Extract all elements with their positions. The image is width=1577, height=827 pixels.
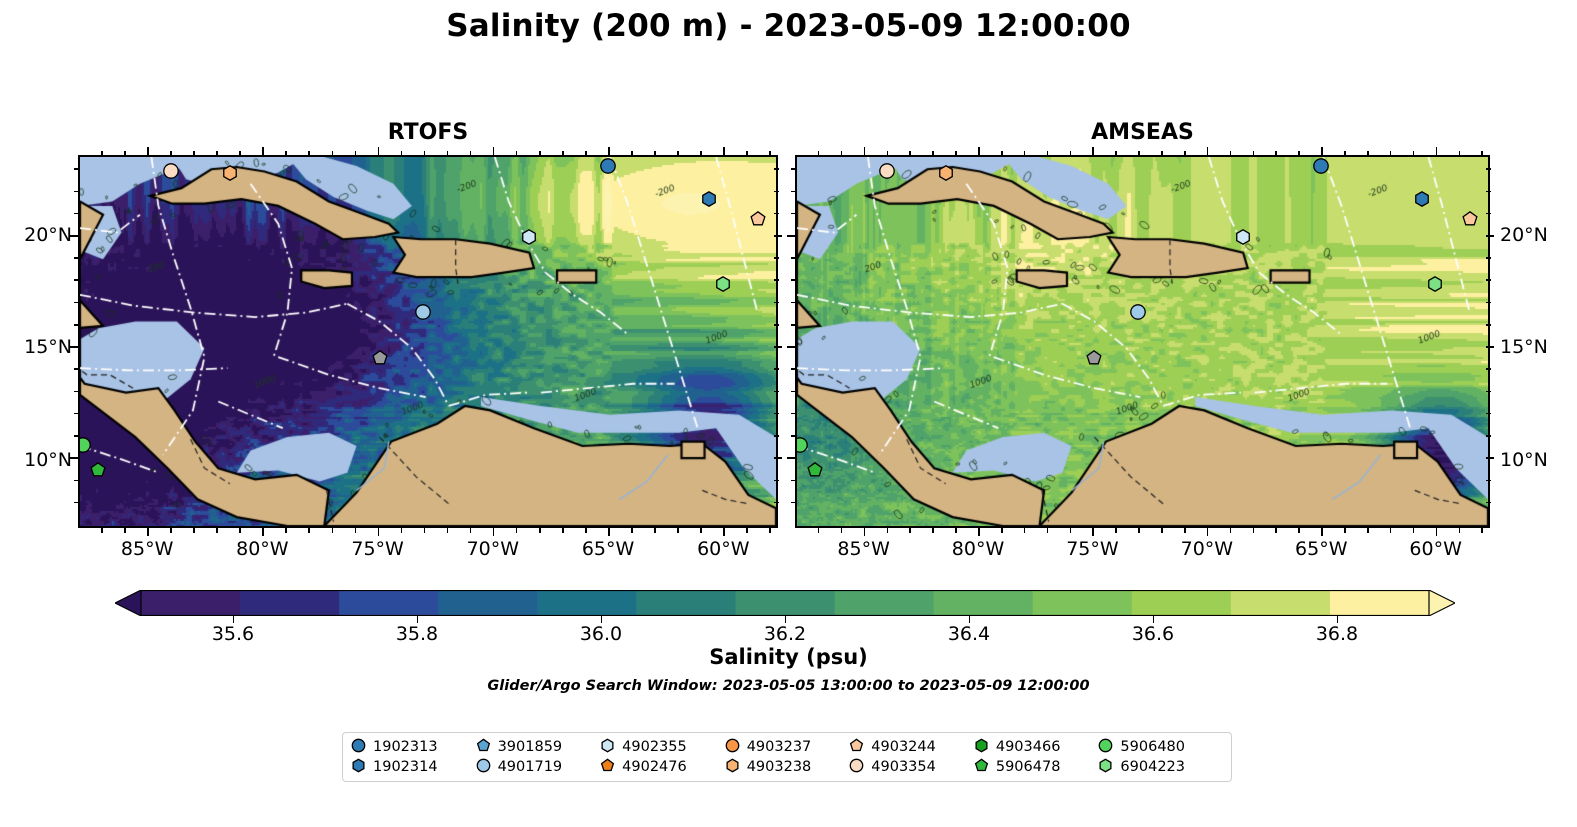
x-tick-minor xyxy=(1001,151,1003,156)
y-tick-minor xyxy=(774,279,779,281)
platform-marker-1902313[interactable] xyxy=(599,158,616,179)
pentagon-marker-icon xyxy=(476,738,491,757)
x-tick-minor xyxy=(955,528,957,533)
platform-marker-4903238[interactable] xyxy=(221,164,238,185)
x-tick-major xyxy=(378,528,380,536)
x-tick-minor xyxy=(1253,528,1255,533)
x-tick-minor xyxy=(101,151,103,156)
pentagon-marker-icon xyxy=(600,758,615,777)
y-axis-tick-label-right: 15°N xyxy=(1500,336,1572,358)
x-tick-minor xyxy=(216,528,218,533)
x-tick-minor xyxy=(887,528,889,533)
x-tick-minor xyxy=(562,151,564,156)
legend-label: 5906478 xyxy=(996,759,1061,775)
y-tick-major xyxy=(774,457,782,459)
platform-marker-4903466[interactable] xyxy=(807,461,824,482)
panel-title-amseas: AMSEAS xyxy=(795,120,1490,145)
legend-item-4901719[interactable]: 4901719 xyxy=(476,758,601,777)
x-tick-minor xyxy=(332,528,334,533)
page-title: Salinity (200 m) - 2023-05-09 12:00:00 xyxy=(0,8,1577,44)
x-tick-minor xyxy=(355,528,357,533)
platform-marker-4903354[interactable] xyxy=(879,162,896,183)
x-tick-minor xyxy=(585,151,587,156)
colorbar-tick-label: 35.8 xyxy=(377,623,457,645)
x-tick-minor xyxy=(1184,151,1186,156)
x-tick-minor xyxy=(1115,528,1117,533)
legend-item-6904223[interactable]: 6904223 xyxy=(1098,758,1223,777)
x-tick-minor xyxy=(447,528,449,533)
y-tick-minor xyxy=(74,168,79,170)
panel-title-rtofs: RTOFS xyxy=(78,120,778,145)
platform-marker-6904223[interactable] xyxy=(1427,275,1444,296)
x-tick-major xyxy=(493,528,495,536)
x-tick-minor xyxy=(1390,528,1392,533)
x-tick-minor xyxy=(631,528,633,533)
y-tick-minor xyxy=(74,413,79,415)
x-tick-minor xyxy=(932,151,934,156)
colorbar-tick xyxy=(601,616,602,623)
x-tick-minor xyxy=(216,151,218,156)
platform-marker-4902355[interactable] xyxy=(521,229,538,250)
x-tick-major xyxy=(978,528,980,536)
y-tick-minor xyxy=(774,435,779,437)
y-tick-minor xyxy=(1486,257,1491,259)
y-tick-minor xyxy=(774,302,779,304)
legend-label: 1902313 xyxy=(373,739,438,755)
x-tick-minor xyxy=(1367,528,1369,533)
legend-item-4902355[interactable]: 4902355 xyxy=(600,738,725,757)
x-tick-minor xyxy=(841,151,843,156)
x-tick-minor xyxy=(401,528,403,533)
platform-marker-4901719[interactable] xyxy=(1129,303,1146,324)
x-axis-tick-label: 75°W xyxy=(333,538,423,560)
platform-marker-6904223[interactable] xyxy=(714,275,731,296)
y-tick-minor xyxy=(774,391,779,393)
x-tick-major xyxy=(608,147,610,155)
x-tick-major xyxy=(1321,528,1323,536)
x-tick-major xyxy=(723,528,725,536)
x-tick-minor xyxy=(1047,528,1049,533)
y-tick-major xyxy=(787,346,795,348)
y-tick-minor xyxy=(791,302,796,304)
hexagon-marker-icon xyxy=(974,738,989,757)
platform-marker-4903354[interactable] xyxy=(163,162,180,183)
x-tick-minor xyxy=(1459,151,1461,156)
x-tick-minor xyxy=(239,528,241,533)
platform-marker-4901719[interactable] xyxy=(415,303,432,324)
x-tick-major xyxy=(1436,147,1438,155)
x-tick-minor xyxy=(1481,151,1483,156)
x-tick-minor xyxy=(1390,151,1392,156)
x-tick-major xyxy=(147,147,149,155)
search-window-text: Glider/Argo Search Window: 2023-05-05 13… xyxy=(0,678,1577,694)
y-tick-minor xyxy=(1486,435,1491,437)
x-tick-minor xyxy=(1413,528,1415,533)
x-tick-minor xyxy=(1298,151,1300,156)
x-tick-minor xyxy=(516,528,518,533)
legend-item-3901859[interactable]: 3901859 xyxy=(476,738,601,757)
x-tick-minor xyxy=(700,151,702,156)
x-tick-minor xyxy=(285,528,287,533)
colorbar: 35.635.836.036.236.436.636.8 xyxy=(115,590,1455,616)
legend-item-4903466[interactable]: 4903466 xyxy=(974,738,1099,757)
x-axis-tick-label: 85°W xyxy=(102,538,192,560)
platform-marker-4903466[interactable] xyxy=(90,461,107,482)
y-tick-minor xyxy=(1486,502,1491,504)
y-tick-major xyxy=(787,457,795,459)
circle-marker-icon xyxy=(1098,738,1113,757)
x-tick-minor xyxy=(562,528,564,533)
colorbar-label: Salinity (psu) xyxy=(0,645,1577,669)
x-tick-minor xyxy=(1161,528,1163,533)
y-tick-major xyxy=(1486,457,1494,459)
y-tick-minor xyxy=(74,502,79,504)
y-tick-minor xyxy=(791,279,796,281)
x-tick-major xyxy=(1321,147,1323,155)
platform-marker-4902355[interactable] xyxy=(1235,229,1252,250)
x-tick-minor xyxy=(401,151,403,156)
colorbar-tick xyxy=(1337,616,1338,623)
x-tick-minor xyxy=(332,151,334,156)
x-axis-tick-label: 80°W xyxy=(933,538,1023,560)
y-axis-tick-label-left: 20°N xyxy=(0,224,72,246)
x-tick-minor xyxy=(101,528,103,533)
y-tick-minor xyxy=(791,191,796,193)
x-tick-minor xyxy=(447,151,449,156)
colorbar-tick-label: 35.6 xyxy=(193,623,273,645)
y-tick-minor xyxy=(1486,391,1491,393)
x-tick-minor xyxy=(1001,528,1003,533)
y-tick-minor xyxy=(1486,413,1491,415)
legend-label: 4903244 xyxy=(871,739,936,755)
x-tick-minor xyxy=(1047,151,1049,156)
y-tick-minor xyxy=(74,391,79,393)
y-tick-minor xyxy=(774,480,779,482)
x-tick-minor xyxy=(285,151,287,156)
y-tick-minor xyxy=(774,257,779,259)
x-tick-minor xyxy=(1275,151,1277,156)
y-tick-major xyxy=(774,346,782,348)
y-tick-minor xyxy=(74,257,79,259)
x-tick-minor xyxy=(239,151,241,156)
y-tick-minor xyxy=(1486,302,1491,304)
x-axis-tick-label: 60°W xyxy=(1391,538,1481,560)
circle-marker-icon xyxy=(849,758,864,777)
legend-item-5906478[interactable]: 5906478 xyxy=(974,758,1099,777)
x-tick-minor xyxy=(746,151,748,156)
x-tick-major xyxy=(723,147,725,155)
platform-marker-5906480[interactable] xyxy=(795,437,809,458)
platform-marker-4903244[interactable] xyxy=(749,211,766,232)
x-tick-minor xyxy=(1161,151,1163,156)
legend-label: 4903238 xyxy=(747,759,812,775)
x-tick-minor xyxy=(1459,528,1461,533)
legend-item-4902476[interactable]: 4902476 xyxy=(600,758,725,777)
legend-label: 3901859 xyxy=(498,739,563,755)
legend-label: 4903354 xyxy=(871,759,936,775)
x-tick-minor xyxy=(1413,151,1415,156)
x-axis-tick-label: 65°W xyxy=(1276,538,1366,560)
x-tick-minor xyxy=(1298,528,1300,533)
x-tick-minor xyxy=(677,528,679,533)
y-tick-minor xyxy=(74,302,79,304)
x-tick-minor xyxy=(170,528,172,533)
legend-item-1902314[interactable]: 1902314 xyxy=(351,758,476,777)
y-tick-minor xyxy=(791,502,796,504)
hexagon-marker-icon xyxy=(1098,758,1113,777)
x-tick-minor xyxy=(308,528,310,533)
y-tick-minor xyxy=(1486,324,1491,326)
x-tick-minor xyxy=(1275,528,1277,533)
circle-marker-icon xyxy=(351,738,366,757)
platform-marker-5906480[interactable] xyxy=(78,437,92,458)
x-tick-minor xyxy=(932,528,934,533)
y-tick-minor xyxy=(791,257,796,259)
x-tick-major xyxy=(864,147,866,155)
x-axis-tick-label: 80°W xyxy=(217,538,307,560)
hexagon-marker-icon xyxy=(600,738,615,757)
x-tick-minor xyxy=(909,528,911,533)
x-tick-minor xyxy=(1367,151,1369,156)
x-tick-minor xyxy=(124,151,126,156)
x-tick-minor xyxy=(700,528,702,533)
y-axis-tick-label-right: 20°N xyxy=(1500,224,1572,246)
x-tick-minor xyxy=(539,151,541,156)
x-axis-tick-label: 85°W xyxy=(819,538,909,560)
hexagon-marker-icon xyxy=(351,758,366,777)
x-tick-minor xyxy=(470,528,472,533)
pentagon-marker-icon xyxy=(974,758,989,777)
x-tick-minor xyxy=(1481,528,1483,533)
x-tick-major xyxy=(1207,147,1209,155)
x-tick-minor xyxy=(355,151,357,156)
y-tick-minor xyxy=(791,413,796,415)
x-tick-minor xyxy=(746,528,748,533)
salinity-field-amseas xyxy=(797,157,1488,526)
x-axis-tick-label: 60°W xyxy=(678,538,768,560)
x-tick-minor xyxy=(424,528,426,533)
y-tick-minor xyxy=(1486,480,1491,482)
platform-marker-1902314[interactable] xyxy=(1413,191,1430,212)
x-tick-minor xyxy=(654,151,656,156)
x-tick-minor xyxy=(955,151,957,156)
circle-marker-icon xyxy=(476,758,491,777)
colorbar-tick-label: 36.4 xyxy=(929,623,1009,645)
y-tick-major xyxy=(774,235,782,237)
y-tick-minor xyxy=(774,413,779,415)
x-tick-minor xyxy=(654,528,656,533)
x-tick-minor xyxy=(1253,151,1255,156)
x-tick-minor xyxy=(124,528,126,533)
y-axis-tick-label-left: 15°N xyxy=(0,336,72,358)
platform-marker-3901859[interactable] xyxy=(1086,350,1103,371)
colorbar-tick xyxy=(969,616,970,623)
x-tick-minor xyxy=(677,151,679,156)
y-tick-minor xyxy=(791,324,796,326)
legend-label: 4901719 xyxy=(498,759,563,775)
x-tick-minor xyxy=(424,151,426,156)
x-tick-minor xyxy=(1138,528,1140,533)
y-tick-minor xyxy=(74,279,79,281)
legend-item-5906480[interactable]: 5906480 xyxy=(1098,738,1223,757)
x-tick-minor xyxy=(818,151,820,156)
colorbar-tick-label: 36.8 xyxy=(1297,623,1377,645)
legend-item-4903238[interactable]: 4903238 xyxy=(725,758,850,777)
y-tick-minor xyxy=(1486,368,1491,370)
x-tick-major xyxy=(1436,528,1438,536)
y-tick-minor xyxy=(774,502,779,504)
x-tick-minor xyxy=(539,528,541,533)
x-tick-minor xyxy=(1230,528,1232,533)
x-tick-minor xyxy=(1138,151,1140,156)
x-axis-tick-label: 75°W xyxy=(1047,538,1137,560)
x-tick-minor xyxy=(193,528,195,533)
y-tick-minor xyxy=(774,168,779,170)
x-tick-minor xyxy=(170,151,172,156)
x-tick-minor xyxy=(1230,151,1232,156)
legend-item-4903244[interactable]: 4903244 xyxy=(849,738,974,757)
platform-marker-1902314[interactable] xyxy=(701,191,718,212)
y-tick-minor xyxy=(774,191,779,193)
legend-label: 4903466 xyxy=(996,739,1061,755)
x-tick-minor xyxy=(909,151,911,156)
y-tick-minor xyxy=(1486,213,1491,215)
y-tick-minor xyxy=(74,324,79,326)
y-tick-major xyxy=(70,346,78,348)
y-tick-minor xyxy=(774,213,779,215)
y-axis-tick-label-left: 10°N xyxy=(0,449,72,471)
x-tick-minor xyxy=(769,528,771,533)
x-tick-minor xyxy=(585,528,587,533)
y-tick-minor xyxy=(774,368,779,370)
platform-marker-3901859[interactable] xyxy=(371,350,388,371)
x-tick-major xyxy=(493,147,495,155)
y-tick-major xyxy=(70,457,78,459)
colorbar-tick xyxy=(233,616,234,623)
legend-item-4903354[interactable]: 4903354 xyxy=(849,758,974,777)
y-tick-minor xyxy=(1486,168,1491,170)
x-tick-minor xyxy=(1024,151,1026,156)
x-tick-major xyxy=(1092,147,1094,155)
y-tick-major xyxy=(787,235,795,237)
salinity-field-rtofs xyxy=(80,157,776,526)
x-tick-major xyxy=(608,528,610,536)
circle-marker-icon xyxy=(725,738,740,757)
colorbar-tick xyxy=(1153,616,1154,623)
y-tick-minor xyxy=(791,368,796,370)
legend-label: 4902476 xyxy=(622,759,687,775)
y-tick-minor xyxy=(1486,279,1491,281)
x-tick-minor xyxy=(1115,151,1117,156)
y-tick-minor xyxy=(791,435,796,437)
colorbar-tick xyxy=(785,616,786,623)
y-tick-minor xyxy=(74,213,79,215)
x-tick-minor xyxy=(308,151,310,156)
y-tick-minor xyxy=(791,391,796,393)
legend-label: 1902314 xyxy=(373,759,438,775)
map-panel-amseas[interactable] xyxy=(795,155,1490,528)
x-tick-major xyxy=(262,147,264,155)
legend-item-1902313[interactable]: 1902313 xyxy=(351,738,476,757)
x-tick-minor xyxy=(1344,151,1346,156)
x-tick-minor xyxy=(1344,528,1346,533)
x-tick-minor xyxy=(1184,528,1186,533)
legend-item-4903237[interactable]: 4903237 xyxy=(725,738,850,757)
x-tick-major xyxy=(978,147,980,155)
pentagon-marker-icon xyxy=(849,738,864,757)
y-tick-minor xyxy=(74,191,79,193)
platform-marker-1902313[interactable] xyxy=(1312,158,1329,179)
y-tick-minor xyxy=(74,435,79,437)
legend-label: 4903237 xyxy=(747,739,812,755)
x-tick-major xyxy=(378,147,380,155)
platform-marker-4903244[interactable] xyxy=(1461,211,1478,232)
x-tick-minor xyxy=(887,151,889,156)
y-tick-minor xyxy=(774,324,779,326)
x-tick-minor xyxy=(769,151,771,156)
x-tick-major xyxy=(147,528,149,536)
platform-legend[interactable]: 1902313 3901859 4902355 4903237 4903244 … xyxy=(342,732,1232,782)
x-tick-minor xyxy=(631,151,633,156)
colorbar-tick-label: 36.2 xyxy=(745,623,825,645)
legend-label: 6904223 xyxy=(1120,759,1185,775)
y-axis-tick-label-right: 10°N xyxy=(1500,449,1572,471)
x-axis-tick-label: 70°W xyxy=(448,538,538,560)
legend-label: 5906480 xyxy=(1120,739,1185,755)
y-tick-major xyxy=(70,235,78,237)
x-tick-minor xyxy=(1070,528,1072,533)
platform-marker-4903238[interactable] xyxy=(937,164,954,185)
y-tick-major xyxy=(1486,346,1494,348)
x-tick-minor xyxy=(818,528,820,533)
y-tick-minor xyxy=(791,168,796,170)
x-tick-minor xyxy=(1070,151,1072,156)
y-tick-minor xyxy=(74,368,79,370)
x-axis-tick-label: 65°W xyxy=(563,538,653,560)
hexagon-marker-icon xyxy=(725,758,740,777)
colorbar-tick-label: 36.0 xyxy=(561,623,641,645)
colorbar-tick xyxy=(417,616,418,623)
legend-label: 4902355 xyxy=(622,739,687,755)
map-panel-rtofs[interactable] xyxy=(78,155,778,528)
x-tick-major xyxy=(1207,528,1209,536)
y-tick-minor xyxy=(791,480,796,482)
colorbar-tick-label: 36.6 xyxy=(1113,623,1193,645)
x-tick-minor xyxy=(516,151,518,156)
x-tick-minor xyxy=(841,528,843,533)
x-tick-minor xyxy=(193,151,195,156)
x-tick-minor xyxy=(470,151,472,156)
x-tick-minor xyxy=(1024,528,1026,533)
y-tick-minor xyxy=(791,213,796,215)
x-tick-major xyxy=(262,528,264,536)
y-tick-minor xyxy=(1486,191,1491,193)
x-tick-major xyxy=(1092,528,1094,536)
y-tick-minor xyxy=(74,480,79,482)
x-tick-major xyxy=(864,528,866,536)
x-axis-tick-label: 70°W xyxy=(1162,538,1252,560)
y-tick-major xyxy=(1486,235,1494,237)
